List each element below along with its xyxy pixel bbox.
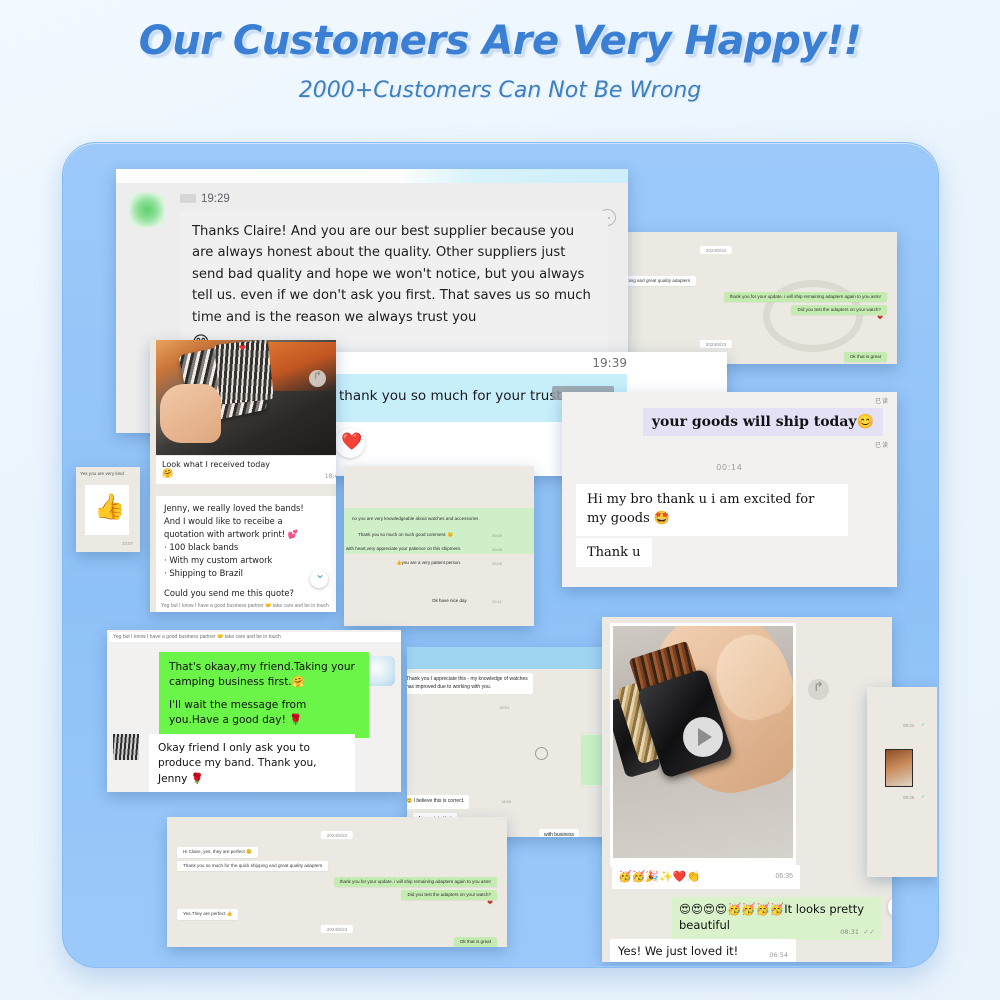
play-button-icon[interactable] xyxy=(683,717,723,757)
timestamp: 08:31 xyxy=(903,723,914,728)
ship-today-card[interactable]: 已读 your goods will ship today😊 已读 00:14 … xyxy=(562,392,897,587)
chat-message: 👍you are a very patient person. xyxy=(396,560,461,566)
chat-message: Thank you so much for the quick shipping… xyxy=(177,861,328,871)
page-subtitle: 2000+Customers Can Not Be Wrong xyxy=(0,64,1000,103)
right-edge-sliver-card[interactable]: 08:31 ✓ 08:35 ✓ xyxy=(867,687,937,877)
message-line: Jenny 🌹 xyxy=(158,772,346,787)
caption-text: Look what I received today xyxy=(162,460,336,469)
incoming-message: Thank u xyxy=(576,538,652,567)
heart-emoji: ❤️ xyxy=(341,432,362,452)
outgoing-message-bubble: 😍😍😍😍🥳🥳🥳🥳It looks pretty beautiful 08:31 … xyxy=(672,897,881,940)
timestamp: 20:07 xyxy=(122,541,133,546)
forward-arrow-icon[interactable] xyxy=(808,679,829,700)
image-thumbnail[interactable] xyxy=(885,749,913,787)
chat-message: Ok that is great xyxy=(454,937,497,947)
timestamp: 18:54 xyxy=(499,705,509,710)
message-line: I'll wait the message from xyxy=(169,698,359,713)
doraemon-sticker xyxy=(365,656,395,686)
timestamp: 06:35 xyxy=(775,873,793,880)
timestamp: 20:58 xyxy=(328,611,336,612)
message-line: quotation with artwork print! 💕 xyxy=(164,528,336,541)
chat-message: thank you for your update. i will ship r… xyxy=(334,877,497,887)
chat-message: Thank you so much on such good comment. … xyxy=(358,532,453,538)
wechat-watch-knowledge-card[interactable]: Thank you I appreciate this - my knowled… xyxy=(407,647,617,837)
read-check-icon: ✓ xyxy=(921,722,925,728)
date-divider: 2024/8/23 xyxy=(700,340,732,348)
timestamp: 08:35 xyxy=(903,795,914,800)
footer-message: Yeg but I know I have a good business pa… xyxy=(156,601,336,611)
timestamp: 06:54 xyxy=(769,951,788,959)
video-message[interactable] xyxy=(610,623,796,867)
incoming-message-bubble: Okay friend I only ask you to produce my… xyxy=(149,734,355,792)
incoming-message: Hi my bro thank u i am excited for my go… xyxy=(576,484,848,536)
message-line: Okay friend I only ask you to xyxy=(158,741,346,756)
hand xyxy=(160,384,221,444)
read-check-icon: ✓ xyxy=(921,794,925,800)
message-line: · With my custom artwork xyxy=(164,554,336,567)
avatar xyxy=(113,734,139,760)
timestamp: 18:55 xyxy=(501,799,511,804)
timestamp: 19:29 xyxy=(201,193,230,205)
whatsapp-video-watch-card[interactable]: 🥳🥳🎉✨❤️👏 06:35 😍😍😍😍🥳🥳🥳🥳It looks pretty be… xyxy=(602,617,892,962)
watermark-ring xyxy=(763,280,863,352)
page-header: Our Customers Are Very Happy!! 2000+Cust… xyxy=(0,0,1000,103)
chat-message: Yes.They are perfect 👍 xyxy=(177,909,238,920)
message-text: 😍😍😍😍🥳🥳🥳🥳It looks pretty beautiful xyxy=(679,902,864,932)
message-header: 19:29 xyxy=(180,193,230,205)
read-receipt: 已读 xyxy=(875,396,889,405)
message-line: And I would like to receibe a xyxy=(164,515,336,528)
chat-message: Ok have nice day xyxy=(432,598,467,603)
window-chrome-strip xyxy=(116,169,628,183)
timestamp: 18:40 xyxy=(325,473,336,480)
caption-emojis: 🥳🥳🎉✨❤️👏 xyxy=(618,871,700,883)
chat-message: Ok that is great xyxy=(844,352,887,362)
thumbs-up-sticker-card[interactable]: Yes you are very kind 👍 20:07 xyxy=(76,467,140,552)
video-thumbnail xyxy=(613,626,793,858)
scroll-down-icon[interactable] xyxy=(888,896,892,918)
quotation-message: Jenny, we really loved the bands! And I … xyxy=(156,496,336,612)
testimonial-collage: 2024/8/22 Hi Claire, yes, they are perfe… xyxy=(62,142,937,966)
message-line: you.Have a good day! 🌹 xyxy=(169,713,359,728)
message-text: thank you so much for your trust xyxy=(339,388,562,404)
outgoing-message-bubble: That's okaay,my friend.Taking your campi… xyxy=(159,652,369,738)
read-check-icon: ✓✓ xyxy=(863,928,875,937)
whatsapp-photo-bands-card[interactable]: ❤ Look what I received today 🤗 18:40 Jen… xyxy=(150,340,336,612)
scroll-down-icon[interactable] xyxy=(310,570,328,588)
date-divider: 2024/8/22 xyxy=(700,246,732,254)
chat-message: Thank you I appreciate this - my knowled… xyxy=(407,673,533,694)
message-line: · 100 black bands xyxy=(164,541,336,554)
heart-emoji: ❤ xyxy=(877,314,883,322)
chat-message: no you are very knowledgeable about watc… xyxy=(352,516,478,521)
chat-message: with business xyxy=(539,829,579,837)
chat-message: thank you for your update. i will ship r… xyxy=(724,292,887,302)
chat-message: with heart,very appreciate your patience… xyxy=(346,546,461,551)
time-divider: 00:14 xyxy=(562,462,897,472)
audio-circle-icon[interactable] xyxy=(535,747,548,760)
message-line: Could you send me this quote? xyxy=(164,587,336,600)
window-chrome-strip xyxy=(407,647,617,669)
message-text: Thanks Claire! And you are our best supp… xyxy=(192,224,591,325)
chat-message: Did you test the adapters on your watch? xyxy=(791,305,887,315)
timestamp: 20:06 xyxy=(492,533,502,538)
message-line: That's okaay,my friend.Taking your xyxy=(169,660,359,675)
message-line: Jenny, we really loved the bands! xyxy=(164,502,336,515)
timestamp: 20:06 xyxy=(492,547,502,552)
message-text: Yes you are very kind xyxy=(80,471,124,476)
chat-message: 😊 I believe this is correct. xyxy=(407,795,469,809)
chat-message: Hi Claire, yes, they are perfect 😊 xyxy=(177,847,258,858)
timestamp: 19:39 xyxy=(592,356,627,370)
message-line: camping business first.🤗 xyxy=(169,675,359,690)
received-bands-photo[interactable]: ❤ xyxy=(156,340,336,455)
message-text: Yes! We just loved it! xyxy=(618,944,738,958)
date-divider: 2024/8/22 xyxy=(321,831,353,839)
timestamp: 20:06 xyxy=(492,561,502,566)
chat-message: Did you test the adapters on your watch? xyxy=(401,890,497,900)
video-caption: 🥳🥳🎉✨❤️👏 06:35 xyxy=(612,865,800,889)
redacted-name xyxy=(180,194,196,203)
heart-emoji: ❤ xyxy=(487,899,493,907)
date-divider: 2024/8/23 xyxy=(321,925,353,933)
read-receipt: 已读 xyxy=(875,440,889,449)
previous-message: Yeg but I know I have a good business pa… xyxy=(109,632,401,642)
heart-decoration-icon: ❤ xyxy=(239,343,247,354)
avatar xyxy=(130,193,164,227)
outgoing-message: your goods will ship today😊 xyxy=(643,408,883,436)
sticker: 👍 xyxy=(85,485,129,535)
wechat-adapters-card-bottom[interactable]: 2024/8/22 Hi Claire, yes, they are perfe… xyxy=(167,817,507,947)
heart-reaction[interactable]: ❤️ xyxy=(335,428,365,458)
wechat-knowledgeable-card[interactable]: no you are very knowledgeable about watc… xyxy=(344,466,534,626)
incoming-message-bubble: Yes! We just loved it! 06:54 xyxy=(610,939,796,962)
timestamp: 20:11 xyxy=(492,599,502,604)
photo-caption: Look what I received today 🤗 18:40 xyxy=(156,456,336,484)
thumbs-up-icon: 👍 xyxy=(94,493,125,522)
timestamp: 08:31 xyxy=(840,928,859,937)
page-title: Our Customers Are Very Happy!! xyxy=(0,0,1000,64)
whatsapp-camping-business-card[interactable]: Yeg but I know I have a good business pa… xyxy=(107,630,401,792)
message-line: produce my band. Thank you, xyxy=(158,756,346,771)
forward-arrow-icon[interactable] xyxy=(309,370,326,387)
caption-emoji: 🤗 xyxy=(162,469,336,479)
